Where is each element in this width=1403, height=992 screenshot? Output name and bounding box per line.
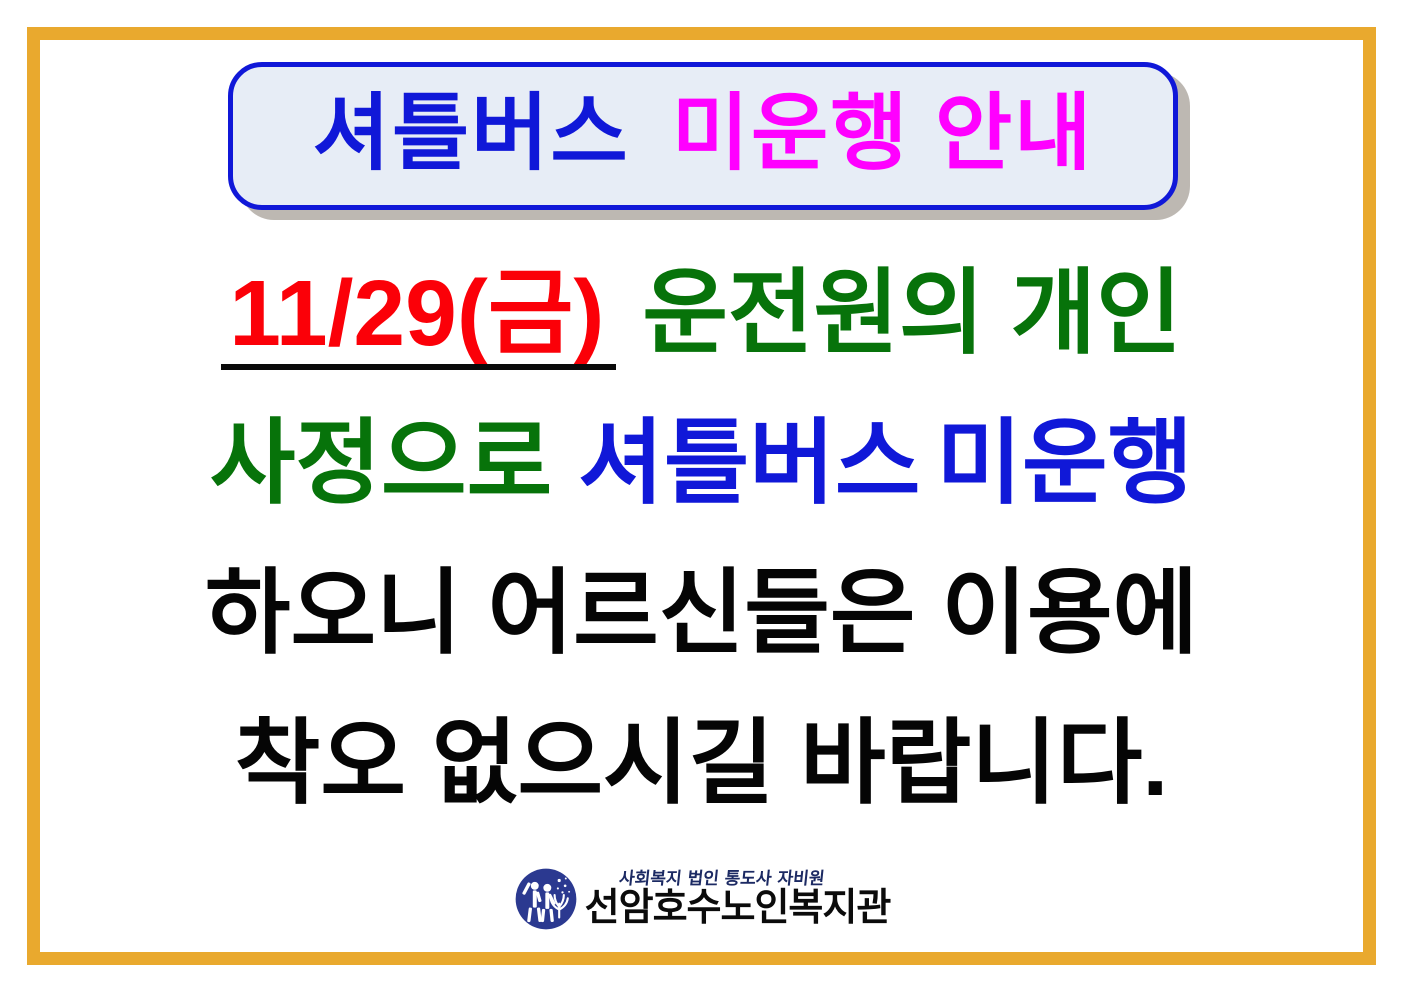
title-plate-container: 셔틀버스 미운행 안내 xyxy=(0,52,1403,222)
notice-line-2: 사정으로셔틀버스미운행 xyxy=(0,388,1403,538)
service-date: 11/29(금) xyxy=(221,238,616,388)
welfare-center-name: 선암호수노인복지관 xyxy=(585,887,891,929)
logo-text-block: 사회복지 법인 통도사 자비원 선암호수노인복지관 xyxy=(585,869,891,929)
line4-word-request: 바랍니다. xyxy=(800,711,1168,815)
line3-word-so: 하오니 xyxy=(205,561,462,665)
line2-word-reason: 사정으로 xyxy=(210,411,552,515)
line3-word-seniors: 어르신들은 xyxy=(488,561,916,665)
notice-body: 11/29(금)운전원의개인 사정으로셔틀버스미운행 하오니어르신들은이용에 착… xyxy=(0,238,1403,838)
notice-line-3: 하오니어르신들은이용에 xyxy=(0,538,1403,688)
title-segment-no-service-notice: 미운행 안내 xyxy=(672,91,1094,175)
title-segment-shuttle-bus: 셔틀버스 xyxy=(313,91,630,175)
organization-logo: 사회복지 법인 통도사 자비원 선암호수노인복지관 xyxy=(0,866,1403,932)
notice-line-1: 11/29(금)운전원의개인 xyxy=(0,238,1403,388)
notice-poster: 셔틀버스 미운행 안내 11/29(금)운전원의개인 사정으로셔틀버스미운행 하… xyxy=(0,0,1403,992)
circle-figures-emblem-icon xyxy=(513,866,579,932)
title-plate: 셔틀버스 미운행 안내 xyxy=(228,62,1178,210)
notice-line-4: 착오없으시길바랍니다. xyxy=(0,688,1403,838)
line3-word-usage: 이용에 xyxy=(941,561,1198,665)
line2-word-shuttle-bus: 셔틀버스 xyxy=(578,411,920,515)
corporation-name: 사회복지 법인 통도사 자비원 xyxy=(618,869,892,889)
line1-word-personal: 개인 xyxy=(1011,261,1182,365)
line2-word-no-service: 미운행 xyxy=(936,411,1193,515)
line1-word-driver: 운전원의 xyxy=(642,261,984,365)
line4-word-without: 없으시길 xyxy=(432,711,774,815)
line4-word-confusion: 착오 xyxy=(235,711,406,815)
